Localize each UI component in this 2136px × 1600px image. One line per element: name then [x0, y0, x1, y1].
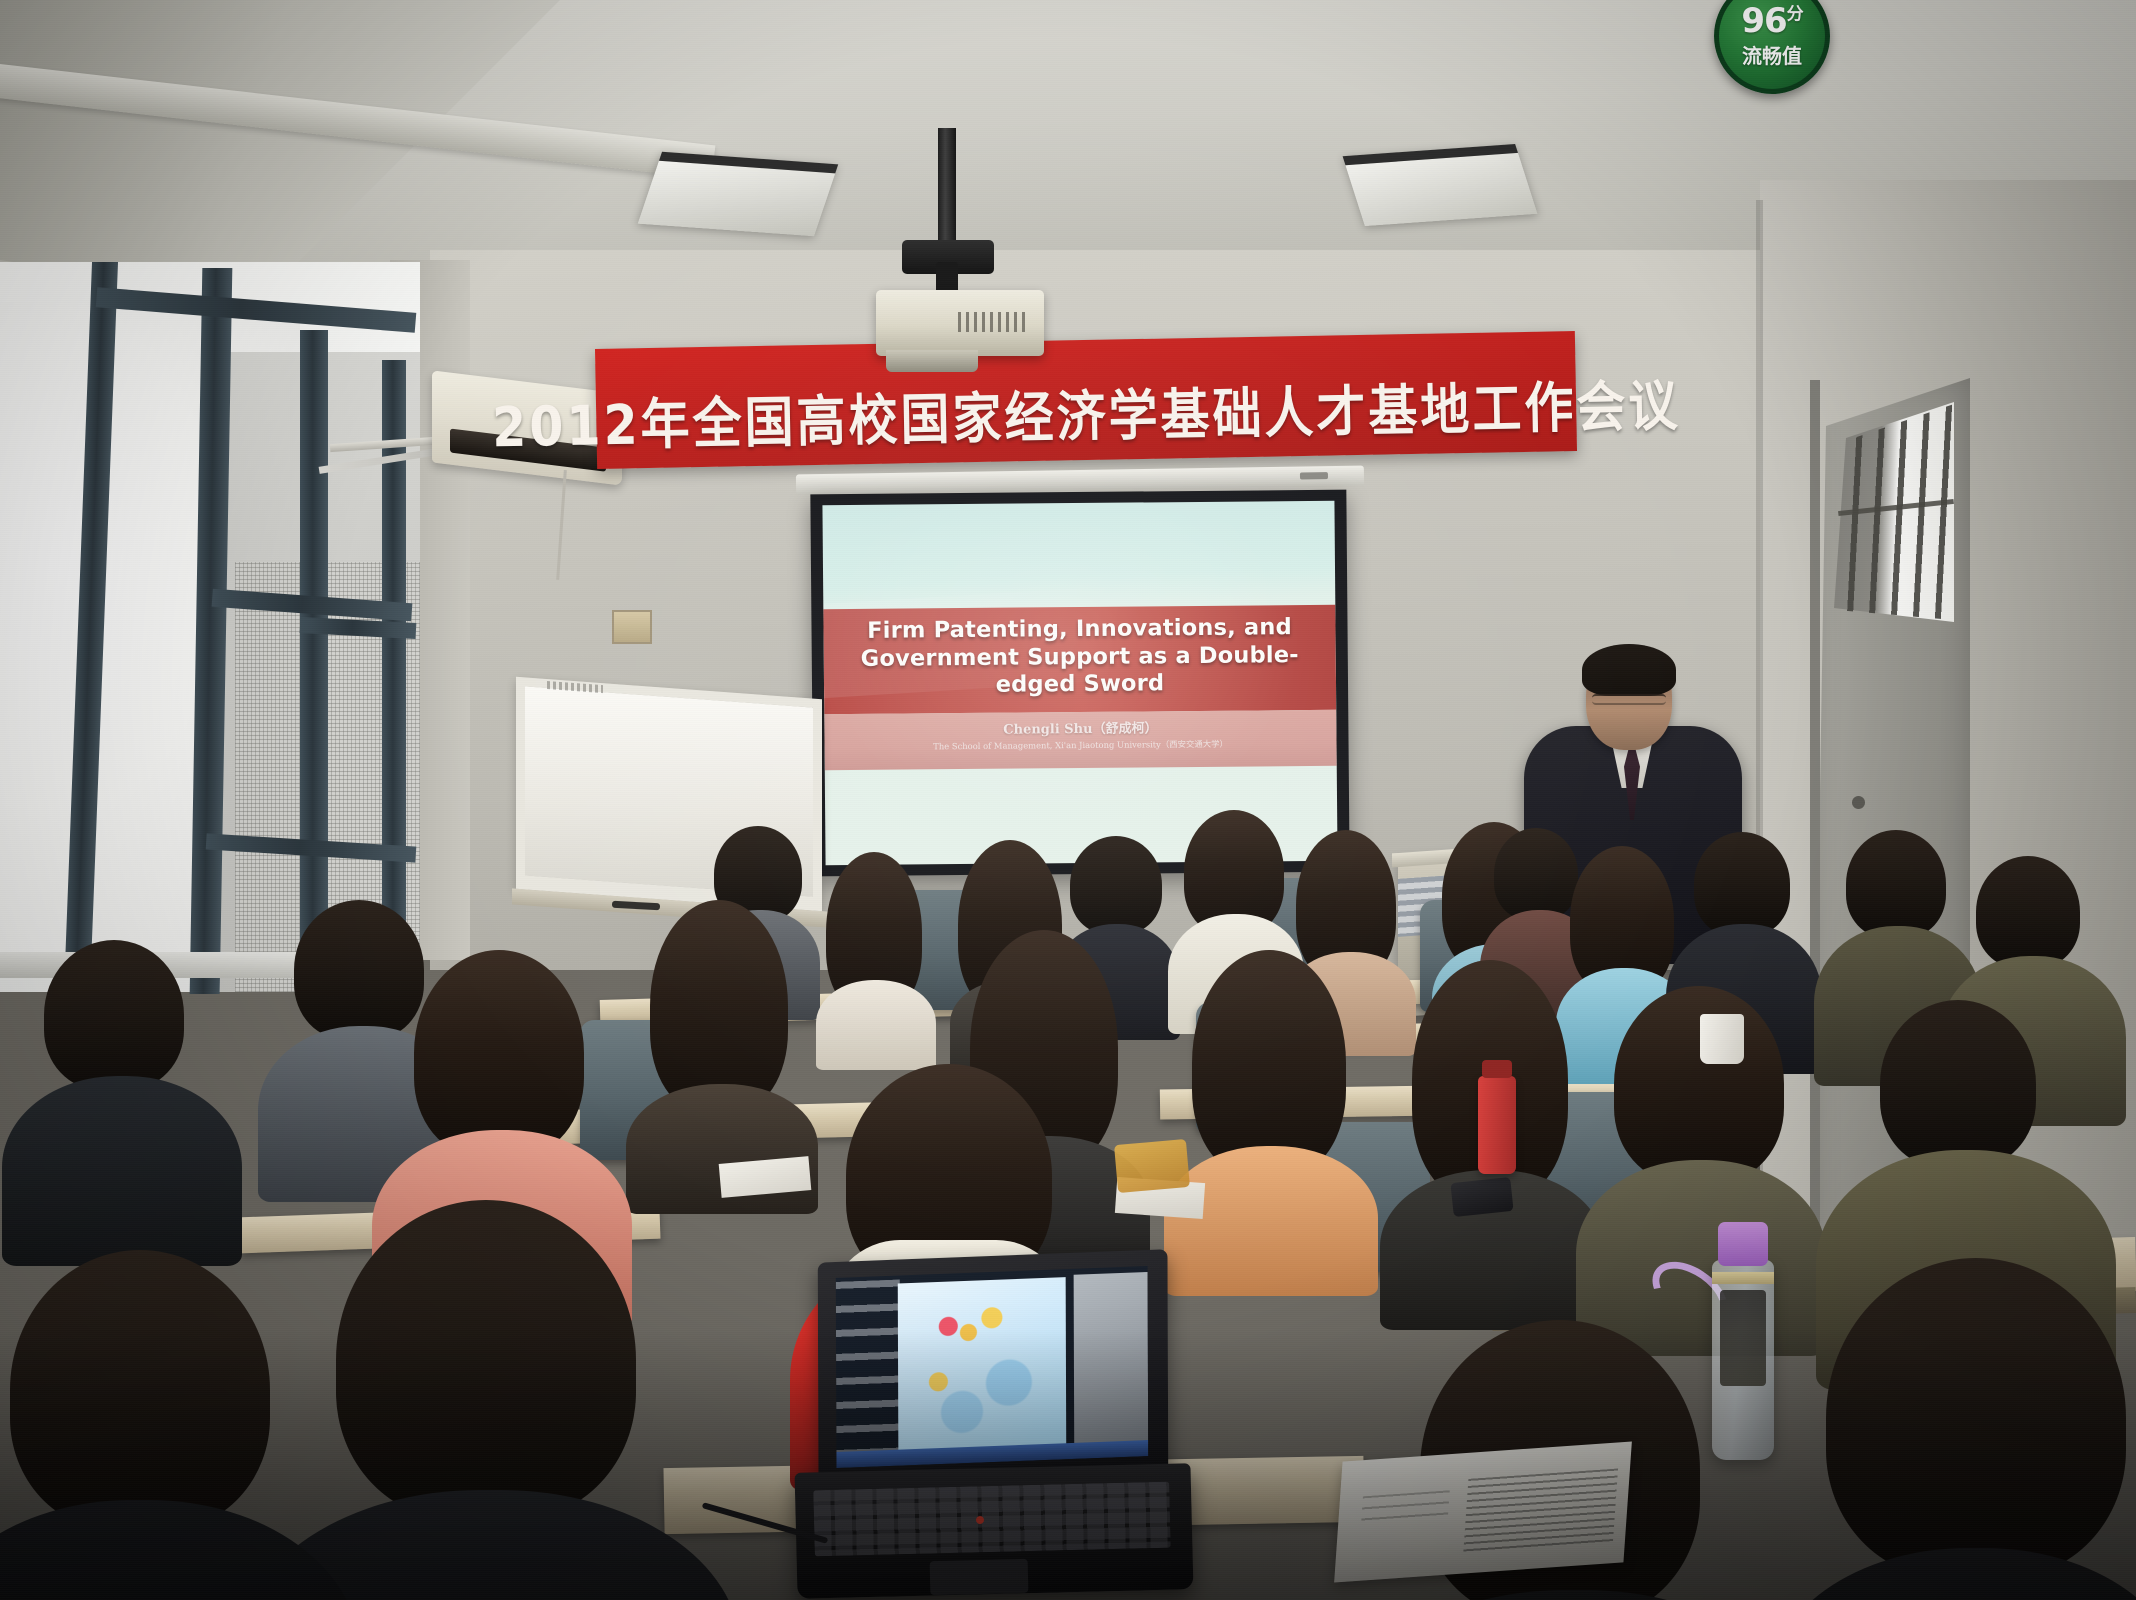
conference-banner: 2012年全国高校国家经济学基础人才基地工作会议	[595, 331, 1577, 469]
projector-lens	[886, 350, 978, 372]
audience-member	[0, 1250, 320, 1600]
slide-title: Firm Patenting, Innovations, and Governm…	[844, 614, 1316, 700]
projector-vent	[958, 312, 1028, 332]
door-knob[interactable]	[1852, 796, 1865, 809]
water-bottle-purple	[1712, 1260, 1774, 1460]
head	[1694, 832, 1790, 936]
whiteboard-brand-mark	[547, 681, 603, 693]
hair	[1614, 986, 1784, 1182]
bottle-cap	[1482, 1060, 1512, 1078]
speaker-glasses	[1592, 694, 1666, 705]
torso	[816, 980, 936, 1070]
printed-handout	[1334, 1441, 1632, 1582]
badge-score: 96分	[1741, 4, 1802, 38]
head	[44, 940, 184, 1090]
projector-mount-pole	[938, 128, 956, 250]
laptop-trackpad[interactable]	[930, 1559, 1029, 1595]
projector-bracket	[902, 240, 994, 274]
conference-room-photo: 2012年全国高校国家经济学基础人才基地工作会议 Firm Patenting,…	[0, 0, 2136, 1600]
snack-package	[1114, 1139, 1190, 1193]
laptop-screen[interactable]	[836, 1266, 1148, 1468]
bottle-cap	[1718, 1222, 1768, 1266]
bottle-contents	[1720, 1290, 1766, 1386]
door-frame	[1810, 380, 1820, 1280]
bottle-band	[1712, 1272, 1774, 1284]
wall-plate	[612, 610, 652, 644]
head	[10, 1250, 270, 1530]
hair	[414, 950, 584, 1156]
laptop-keyboard[interactable]	[813, 1482, 1171, 1557]
desktop-wallpaper-image	[898, 1277, 1066, 1456]
head	[1070, 836, 1162, 934]
torso	[1164, 1146, 1378, 1296]
audience-member	[640, 900, 800, 1170]
hair	[650, 900, 788, 1112]
window-mullion	[300, 330, 328, 992]
ceiling-light-left	[638, 152, 838, 236]
audience-member	[30, 940, 210, 1240]
conference-banner-text: 2012年全国高校国家经济学基础人才基地工作会议	[491, 361, 1681, 462]
torso	[2, 1076, 242, 1266]
torso	[0, 1500, 360, 1600]
torso	[1766, 1548, 2136, 1600]
audience-member	[1806, 1258, 2136, 1600]
badge-unit: 分	[1787, 4, 1803, 24]
audience-member	[820, 852, 930, 1038]
head	[1846, 830, 1946, 938]
speaker-hair	[1582, 644, 1676, 696]
mobile-phone[interactable]	[1450, 1177, 1513, 1217]
projector	[876, 290, 1044, 356]
handout-text-lines	[1361, 1490, 1450, 1527]
paper-cup	[1700, 1014, 1744, 1064]
head	[336, 1200, 636, 1520]
ceiling-light-right	[1343, 144, 1538, 226]
desktop-panel	[1074, 1272, 1149, 1447]
water-bottle-red	[1478, 1076, 1516, 1174]
desktop-icons[interactable]	[836, 1279, 901, 1458]
handout-text-lines	[1463, 1469, 1619, 1554]
head	[1880, 1000, 2036, 1168]
audience-member	[300, 1200, 680, 1600]
head	[1826, 1258, 2126, 1578]
head	[1976, 856, 2080, 968]
audience-member	[1180, 950, 1360, 1250]
badge-label: 流畅值	[1742, 40, 1802, 69]
hair	[1192, 950, 1346, 1176]
torso	[1340, 1590, 1810, 1600]
